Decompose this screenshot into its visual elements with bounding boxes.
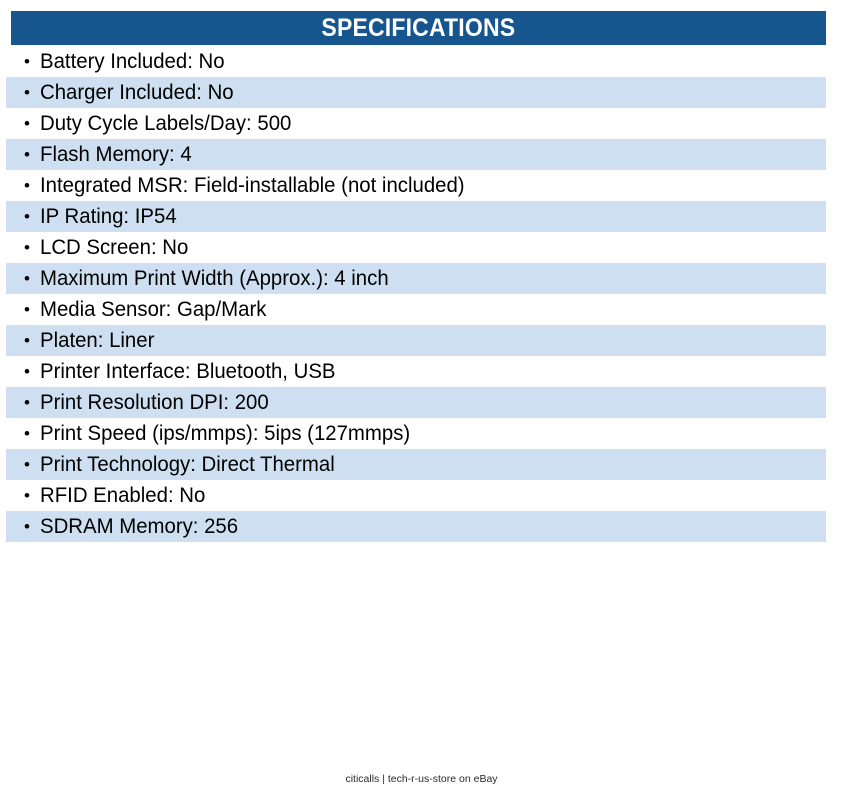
spec-row-text: Printer Interface: Bluetooth, USB bbox=[40, 361, 336, 382]
bullet-icon: • bbox=[20, 270, 40, 287]
spec-row-text: Media Sensor: Gap/Mark bbox=[40, 299, 266, 320]
page-title: SPECIFICATIONS bbox=[322, 16, 516, 41]
bullet-icon: • bbox=[20, 146, 40, 163]
bullet-icon: • bbox=[20, 53, 40, 70]
footer-store-credit: citicalls | tech-r-us-store on eBay bbox=[345, 773, 497, 785]
bullet-icon: • bbox=[20, 363, 40, 380]
specifications-header-banner: SPECIFICATIONS bbox=[11, 11, 826, 45]
spec-row: •SDRAM Memory: 256 bbox=[6, 511, 826, 542]
bullet-icon: • bbox=[20, 394, 40, 411]
spec-row-text: Print Technology: Direct Thermal bbox=[40, 454, 335, 475]
bullet-icon: • bbox=[20, 84, 40, 101]
specifications-list: •Battery Included: No•Charger Included: … bbox=[6, 46, 826, 542]
spec-row-text: LCD Screen: No bbox=[40, 237, 188, 258]
spec-row: •RFID Enabled: No bbox=[6, 480, 826, 511]
spec-row: •Print Resolution DPI: 200 bbox=[6, 387, 826, 418]
spec-row-text: Platen: Liner bbox=[40, 330, 154, 351]
spec-row-text: IP Rating: IP54 bbox=[40, 206, 177, 227]
spec-row-text: Flash Memory: 4 bbox=[40, 144, 192, 165]
bullet-icon: • bbox=[20, 239, 40, 256]
spec-row: •Print Speed (ips/mmps): 5ips (127mmps) bbox=[6, 418, 826, 449]
spec-row: •LCD Screen: No bbox=[6, 232, 826, 263]
spec-row: •Charger Included: No bbox=[6, 77, 826, 108]
bullet-icon: • bbox=[20, 425, 40, 442]
bullet-icon: • bbox=[20, 332, 40, 349]
bullet-icon: • bbox=[20, 301, 40, 318]
bullet-icon: • bbox=[20, 115, 40, 132]
bullet-icon: • bbox=[20, 208, 40, 225]
spec-row: •Media Sensor: Gap/Mark bbox=[6, 294, 826, 325]
spec-row-text: Battery Included: No bbox=[40, 51, 225, 72]
spec-row-text: Maximum Print Width (Approx.): 4 inch bbox=[40, 268, 389, 289]
spec-row-text: RFID Enabled: No bbox=[40, 485, 205, 506]
bullet-icon: • bbox=[20, 456, 40, 473]
spec-row: •Maximum Print Width (Approx.): 4 inch bbox=[6, 263, 826, 294]
bullet-icon: • bbox=[20, 487, 40, 504]
bullet-icon: • bbox=[20, 177, 40, 194]
bullet-icon: • bbox=[20, 518, 40, 535]
spec-row: •Duty Cycle Labels/Day: 500 bbox=[6, 108, 826, 139]
spec-row-text: Charger Included: No bbox=[40, 82, 234, 103]
spec-row: •Battery Included: No bbox=[6, 46, 826, 77]
footer: citicalls | tech-r-us-store on eBay bbox=[0, 769, 843, 787]
spec-row-text: Print Resolution DPI: 200 bbox=[40, 392, 269, 413]
spec-row: •Platen: Liner bbox=[6, 325, 826, 356]
spec-row-text: Print Speed (ips/mmps): 5ips (127mmps) bbox=[40, 423, 410, 444]
spec-row-text: Duty Cycle Labels/Day: 500 bbox=[40, 113, 291, 134]
spec-row-text: SDRAM Memory: 256 bbox=[40, 516, 238, 537]
spec-row: •Integrated MSR: Field-installable (not … bbox=[6, 170, 826, 201]
spec-row: •Printer Interface: Bluetooth, USB bbox=[6, 356, 826, 387]
spec-row-text: Integrated MSR: Field-installable (not i… bbox=[40, 175, 465, 196]
specifications-sheet: SPECIFICATIONS •Battery Included: No•Cha… bbox=[0, 0, 843, 792]
spec-row: •Print Technology: Direct Thermal bbox=[6, 449, 826, 480]
spec-row: •IP Rating: IP54 bbox=[6, 201, 826, 232]
spec-row: •Flash Memory: 4 bbox=[6, 139, 826, 170]
